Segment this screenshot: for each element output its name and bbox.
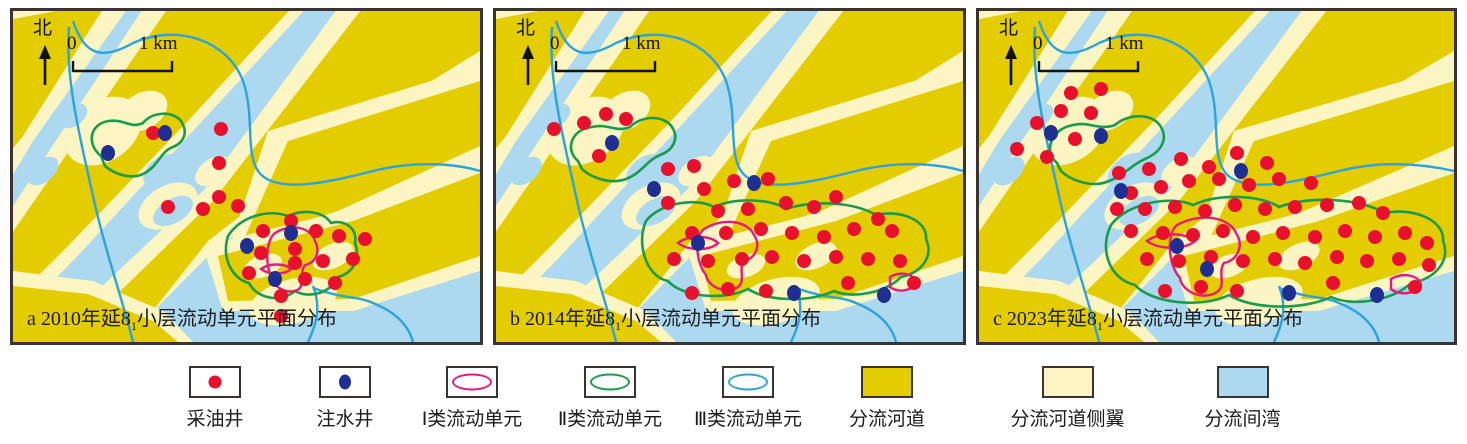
scale-start-label: 0 <box>1033 33 1043 55</box>
scale-start-label: 0 <box>67 33 77 55</box>
map-panel-c[interactable]: 北 0 1 km c 2023年延81小层流动单元平面分布 <box>976 8 1457 345</box>
scale-bar-c: 0 1 km <box>1033 33 1153 79</box>
north-arrow-icon <box>1001 43 1021 87</box>
north-label: 北 <box>999 19 1018 38</box>
scale-bar-a: 0 1 km <box>67 33 187 79</box>
legend-swatch-distributary-channel <box>861 366 913 398</box>
legend-label-class1: Ⅰ类流动单元 <box>407 404 537 431</box>
caption-main: c 2023年延8 <box>993 308 1097 330</box>
caption-tail: 小层流动单元平面分布 <box>621 308 821 330</box>
north-label: 北 <box>33 19 52 38</box>
figure-legend: 采油井 注水井 Ⅰ类流动单元 Ⅱ类流动单元 Ⅲ类流动单元 <box>0 366 1467 444</box>
scale-bar-line <box>71 59 201 77</box>
class1-flow-unit-icon <box>452 374 492 391</box>
scale-end-label: 1 km <box>622 33 661 55</box>
scale-end-label: 1 km <box>139 33 178 55</box>
figure-root: 北 0 1 km a 2010年延81小层流动单元平面分布 <box>0 0 1467 444</box>
production-well-icon <box>209 376 222 389</box>
caption-tail: 小层流动单元平面分布 <box>1103 308 1303 330</box>
legend-label-interdistributary-bay: 分流间湾 <box>1185 404 1300 431</box>
caption-tail: 小层流动单元平面分布 <box>137 308 337 330</box>
legend-item-class2-flow-unit[interactable]: Ⅱ类流动单元 <box>545 366 675 431</box>
injection-well-icon <box>339 375 351 390</box>
legend-swatch-class3 <box>722 366 774 398</box>
legend-swatch-channel-flank <box>1042 366 1094 398</box>
caption-main: b 2014年延8 <box>510 308 615 330</box>
scale-bar-line <box>554 59 684 77</box>
legend-item-injection-well[interactable]: 注水井 <box>290 366 400 431</box>
scale-end-label: 1 km <box>1105 33 1144 55</box>
legend-item-production-well[interactable]: 采油井 <box>160 366 270 431</box>
legend-label-channel-flank: 分流河道侧翼 <box>1000 404 1135 431</box>
legend-swatch-class1 <box>446 366 498 398</box>
north-label: 北 <box>516 19 535 38</box>
map-panel-a[interactable]: 北 0 1 km a 2010年延81小层流动单元平面分布 <box>10 8 483 345</box>
legend-swatch-production-well <box>189 366 241 398</box>
panel-c-caption: c 2023年延81小层流动单元平面分布 <box>993 302 1303 334</box>
legend-label-injection-well: 注水井 <box>290 404 400 431</box>
scale-start-label: 0 <box>550 33 560 55</box>
scale-bar-b: 0 1 km <box>550 33 670 79</box>
legend-label-class3: Ⅲ类流动单元 <box>683 404 813 431</box>
legend-label-class2: Ⅱ类流动单元 <box>545 404 675 431</box>
north-arrow-icon <box>518 43 538 87</box>
legend-item-class1-flow-unit[interactable]: Ⅰ类流动单元 <box>407 366 537 431</box>
class2-flow-unit-icon <box>590 374 630 391</box>
class3-flow-unit-icon <box>728 374 768 391</box>
panel-a-caption: a 2010年延81小层流动单元平面分布 <box>27 302 337 334</box>
scale-bar-line <box>1037 59 1167 77</box>
panel-b-caption: b 2014年延81小层流动单元平面分布 <box>510 302 821 334</box>
north-arrow-icon <box>35 43 55 87</box>
map-panel-b[interactable]: 北 0 1 km b 2014年延81小层流动单元平面分布 <box>493 8 966 345</box>
legend-item-interdistributary-bay[interactable]: 分流间湾 <box>1185 366 1300 431</box>
caption-main: a 2010年延8 <box>27 308 131 330</box>
legend-label-production-well: 采油井 <box>160 404 270 431</box>
legend-swatch-class2 <box>584 366 636 398</box>
legend-swatch-injection-well <box>319 366 371 398</box>
legend-label-distributary-channel: 分流河道 <box>832 404 942 431</box>
legend-item-channel-flank[interactable]: 分流河道侧翼 <box>1000 366 1135 431</box>
legend-item-distributary-channel[interactable]: 分流河道 <box>832 366 942 431</box>
legend-item-class3-flow-unit[interactable]: Ⅲ类流动单元 <box>683 366 813 431</box>
legend-swatch-interdistributary-bay <box>1217 366 1269 398</box>
